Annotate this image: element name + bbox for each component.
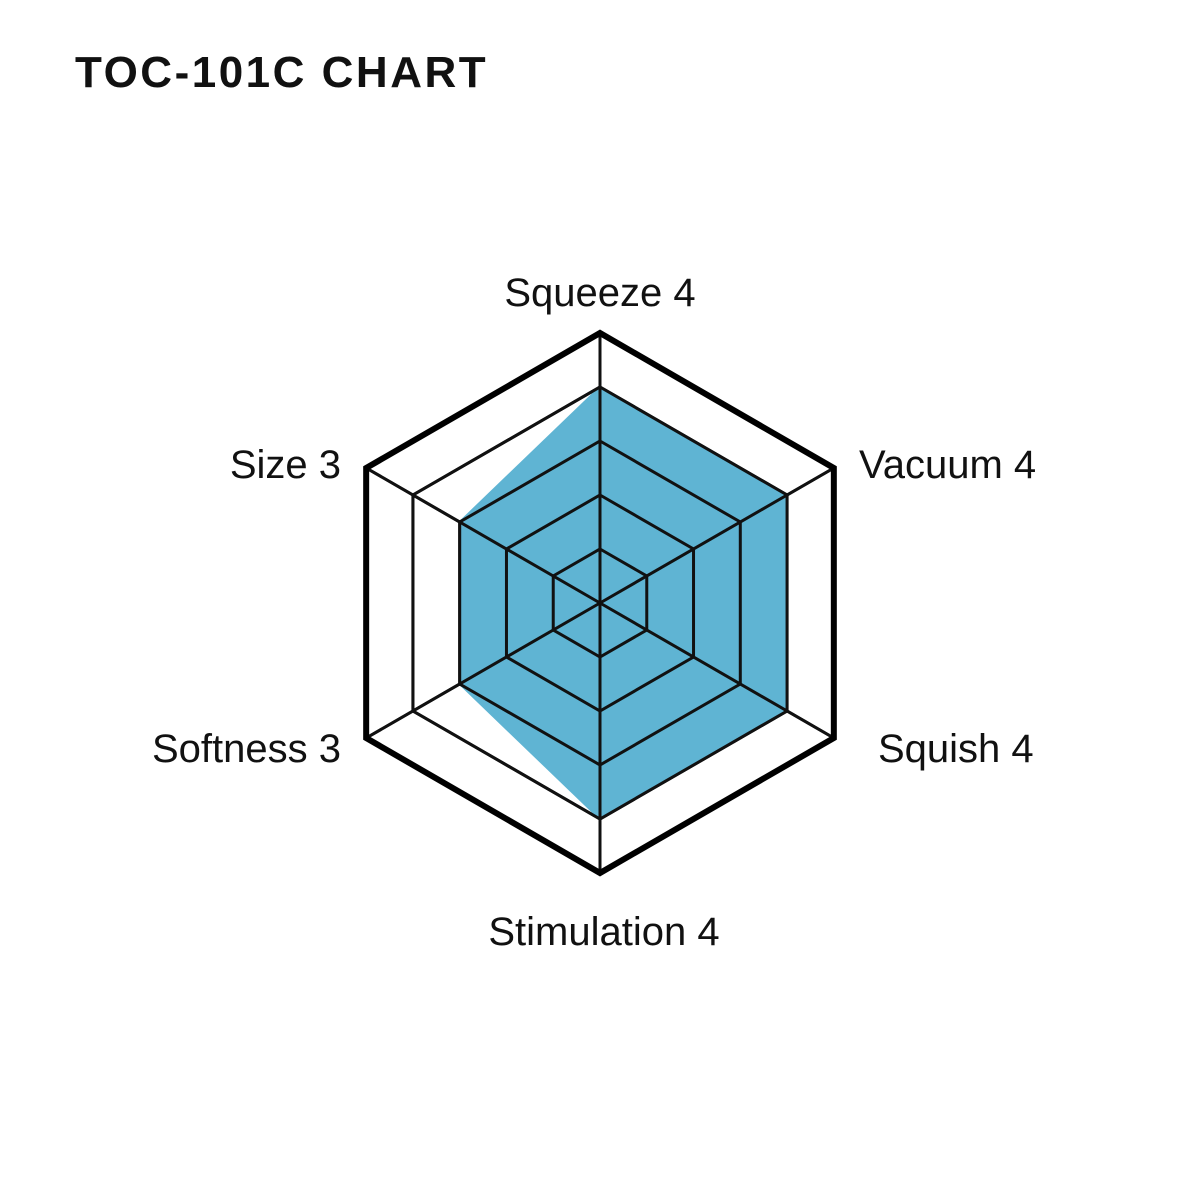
axis-label-squeeze: Squeeze 4 [504,271,695,315]
axis-label-squish: Squish 4 [878,727,1034,771]
axis-label-softness: Softness 3 [152,727,341,771]
axis-label-size: Size 3 [230,443,341,487]
radar-series-area [460,387,787,819]
radar-chart: Squeeze 4 Vacuum 4 Squish 4 Stimulation … [0,0,1200,1200]
axis-label-vacuum: Vacuum 4 [859,443,1036,487]
chart-page: TOC-101C CHART Squeeze 4 Vacuum 4 Squish… [0,0,1200,1200]
axis-label-stimulation: Stimulation 4 [488,910,719,954]
